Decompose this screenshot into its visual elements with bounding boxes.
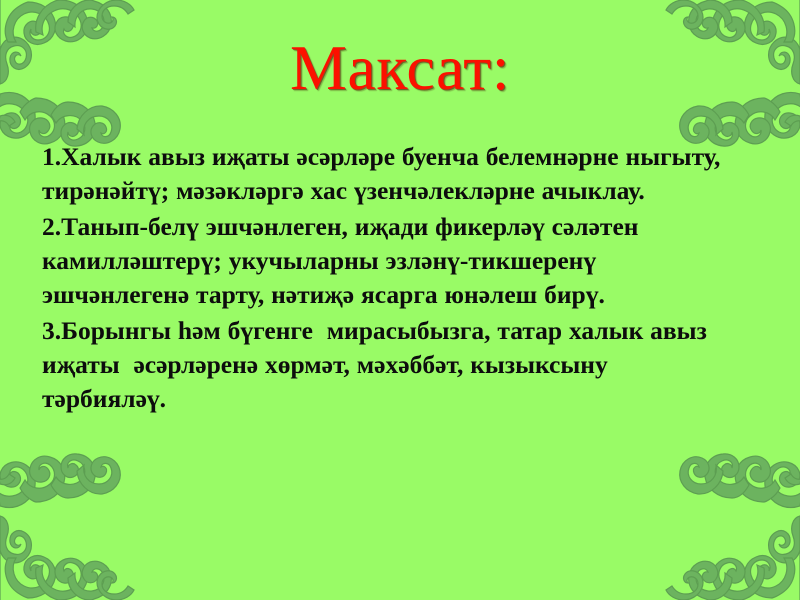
floral-scroll-ornament-bottom-right xyxy=(652,452,800,600)
slide-canvas: Максат: 1.Халык авыз иҗаты әсәрләре буен… xyxy=(0,0,800,600)
objective-item-3: 3.Борынгы һәм бүгенге мирасыбызга, татар… xyxy=(42,314,742,416)
page-title: Максат: xyxy=(290,36,510,100)
floral-scroll-ornament-bottom-left xyxy=(0,452,148,600)
title-container: Максат: xyxy=(0,36,800,100)
objectives-list: 1.Халык авыз иҗаты әсәрләре буенча белем… xyxy=(42,140,742,418)
objective-item-2: 2.Танып-белү эшчәнлеген, иҗади фикерләү … xyxy=(42,210,742,312)
objective-item-1: 1.Халык авыз иҗаты әсәрләре буенча белем… xyxy=(42,140,742,208)
